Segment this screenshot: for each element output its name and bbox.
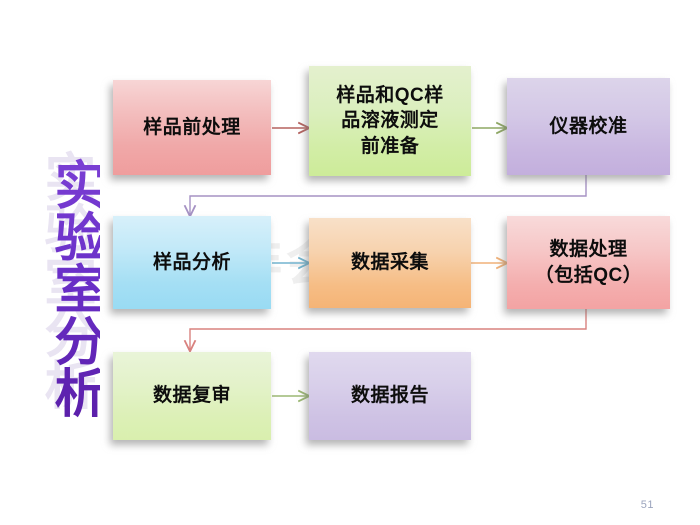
slide-title: 实验室分析 实验室分析 bbox=[26, 158, 100, 414]
node-label-line-1: 样品和QC样 bbox=[330, 83, 450, 108]
node-sample-pretreatment[interactable]: 样品前处理 bbox=[113, 80, 271, 175]
node-label: 数据采集 bbox=[345, 250, 435, 275]
node-data-processing[interactable]: 数据处理 （包括QC） bbox=[507, 216, 670, 309]
slide-title-text: 实验室分析 bbox=[26, 158, 100, 418]
node-data-acquisition[interactable]: 数据采集 bbox=[309, 218, 471, 308]
node-label-line-3: 前准备 bbox=[355, 134, 426, 159]
node-label: 数据复审 bbox=[147, 383, 237, 408]
node-label: 数据报告 bbox=[345, 383, 435, 408]
node-label: 样品分析 bbox=[147, 250, 237, 275]
node-label: 仪器校准 bbox=[543, 114, 633, 139]
node-label-line-1: 数据处理 bbox=[543, 237, 633, 262]
node-data-review[interactable]: 数据复审 bbox=[113, 352, 271, 440]
page-number: 51 bbox=[641, 499, 654, 511]
node-data-report[interactable]: 数据报告 bbox=[309, 352, 471, 440]
node-label: 样品前处理 bbox=[137, 115, 247, 140]
node-label-line-2: （包括QC） bbox=[529, 263, 649, 288]
node-instrument-calibration[interactable]: 仪器校准 bbox=[507, 78, 670, 175]
edge-n3-n4 bbox=[190, 175, 586, 215]
node-label-line-2: 品溶液测定 bbox=[335, 108, 445, 133]
node-sample-analysis[interactable]: 样品分析 bbox=[113, 216, 271, 309]
node-sample-qc-prep[interactable]: 样品和QC样 品溶液测定 前准备 bbox=[309, 66, 471, 176]
edge-n6-n7 bbox=[190, 308, 586, 350]
slide-canvas: 非会员 实验室分析 实验室分析 bbox=[0, 0, 700, 525]
